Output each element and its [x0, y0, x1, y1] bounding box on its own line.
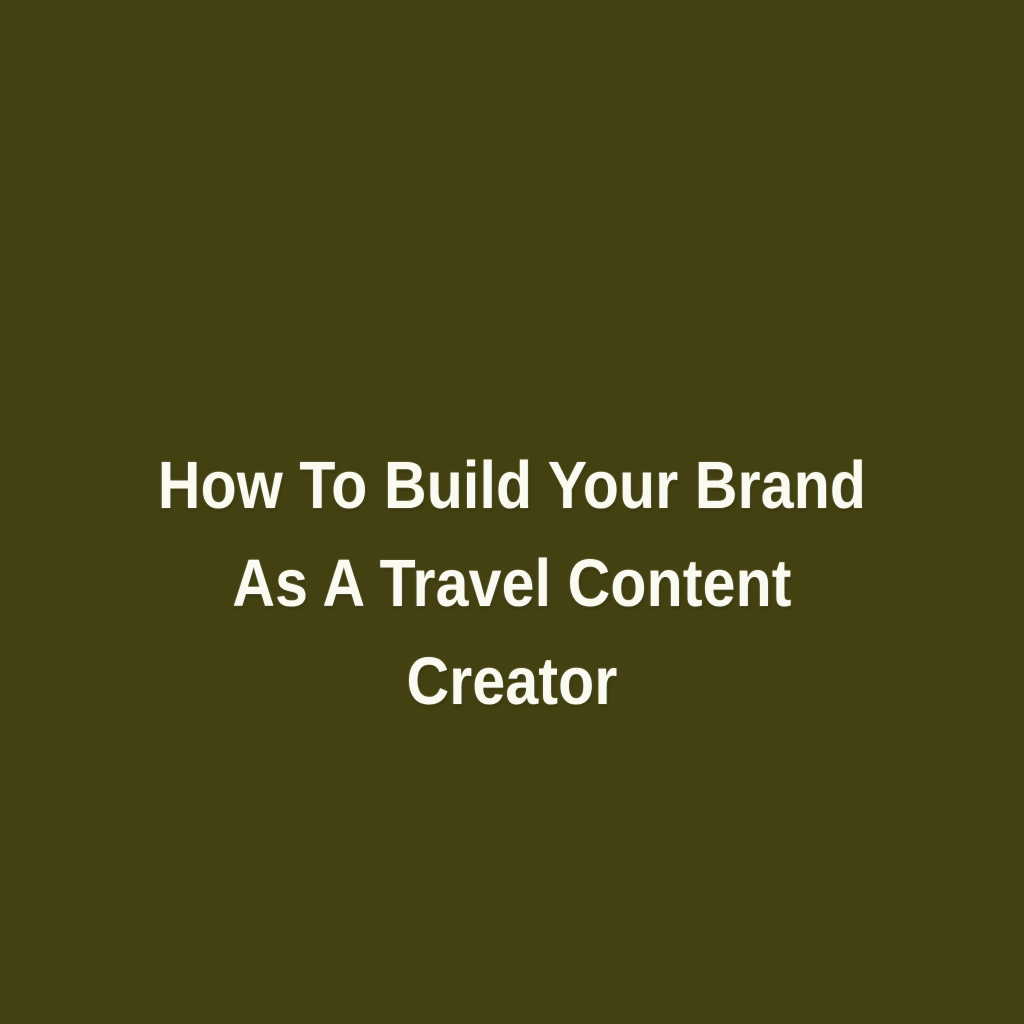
headline-line-3: Creator [104, 657, 921, 706]
headline-line-1: How To Build Your Brand [104, 461, 921, 510]
page-title: How To Build Your Brand As A Travel Cont… [104, 412, 921, 755]
title-card: How To Build Your Brand As A Travel Cont… [0, 0, 1024, 1024]
headline-block: How To Build Your Brand As A Travel Cont… [0, 412, 1024, 755]
headline-line-2: As A Travel Content [104, 559, 921, 608]
